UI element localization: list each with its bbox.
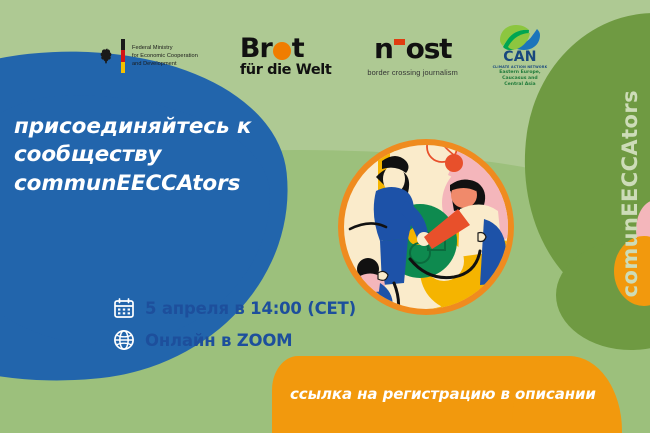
logo-bmz-line2: for Economic Cooperation (132, 52, 198, 60)
logo-nost-tagline: border crossing journalism (367, 68, 458, 77)
event-date-row: 5 апреля в 14:00 (CET) (113, 297, 356, 319)
event-platform-row: Онлайн в ZOOM (113, 329, 356, 351)
logo-can-eecca: CAN CLIMATE ACTION NETWORK Eastern Europ… (492, 24, 548, 87)
community-collaboration-illustration (332, 133, 520, 321)
logo-nost-wordmark: n ost (374, 35, 451, 63)
german-eagle-icon (100, 48, 114, 64)
event-details: 5 апреля в 14:00 (CET) Онлайн в ZOOM (113, 297, 356, 351)
logo-brot-wordmark: Br t (240, 35, 304, 62)
logo-brot-part-b: t (292, 35, 304, 62)
logo-bmz-text: Federal Ministry for Economic Cooperatio… (132, 44, 198, 68)
event-date-text: 5 апреля в 14:00 (CET) (145, 299, 356, 318)
calendar-icon (113, 297, 135, 319)
globe-icon (113, 329, 135, 351)
cta-text: ссылка на регистрацию в описании (290, 385, 596, 403)
can-globe-icon (496, 24, 544, 51)
logo-bmz-line1: Federal Ministry (132, 44, 198, 52)
logo-can-subtitle: CLIMATE ACTION NETWORK (493, 65, 548, 69)
illustration-svg (332, 133, 520, 321)
event-platform-text: Онлайн в ZOOM (145, 331, 292, 350)
logo-nost: n ost border crossing journalism (367, 35, 458, 77)
vertical-brand-label: comunEECCAtors (618, 90, 642, 297)
logo-nost-dash-icon (394, 39, 405, 45)
german-flag-bar (121, 39, 125, 73)
headline: присоединяйтесь к сообществу communEECCA… (14, 113, 299, 198)
poster-canvas: Federal Ministry for Economic Cooperatio… (0, 0, 650, 433)
logo-brot-orange-dot-icon (273, 42, 291, 60)
logo-nost-part-a: n (374, 35, 393, 63)
logo-can-wordmark: CAN (503, 50, 536, 64)
logo-nost-part-b: ost (406, 35, 452, 63)
logo-brot-part-a: Br (240, 35, 272, 62)
logo-brot-subline: für die Welt (240, 63, 331, 78)
logo-bmz-line3: and Development (132, 60, 198, 68)
logo-can-region: Eastern Europe, Caucasus and Central Asi… (492, 70, 548, 87)
sponsor-logo-bar: Federal Ministry for Economic Cooperatio… (0, 24, 650, 88)
logo-bmz: Federal Ministry for Economic Cooperatio… (100, 39, 198, 73)
logo-brot-fuer-die-welt: Br t für die Welt (240, 35, 331, 78)
